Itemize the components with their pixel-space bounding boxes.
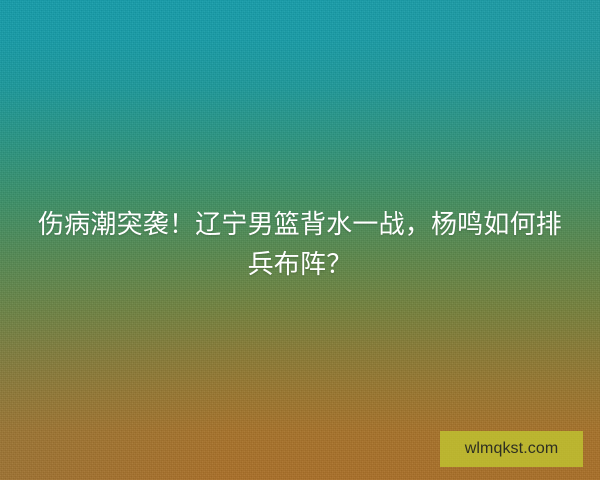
watermark-badge: wlmqkst.com bbox=[440, 431, 583, 467]
banner-image: 伤病潮突袭！辽宁男篮背水一战，杨鸣如何排兵布阵？ wlmqkst.com bbox=[0, 0, 600, 480]
headline-text: 伤病潮突袭！辽宁男篮背水一战，杨鸣如何排兵布阵？ bbox=[0, 204, 600, 284]
watermark-label: wlmqkst.com bbox=[465, 441, 559, 457]
